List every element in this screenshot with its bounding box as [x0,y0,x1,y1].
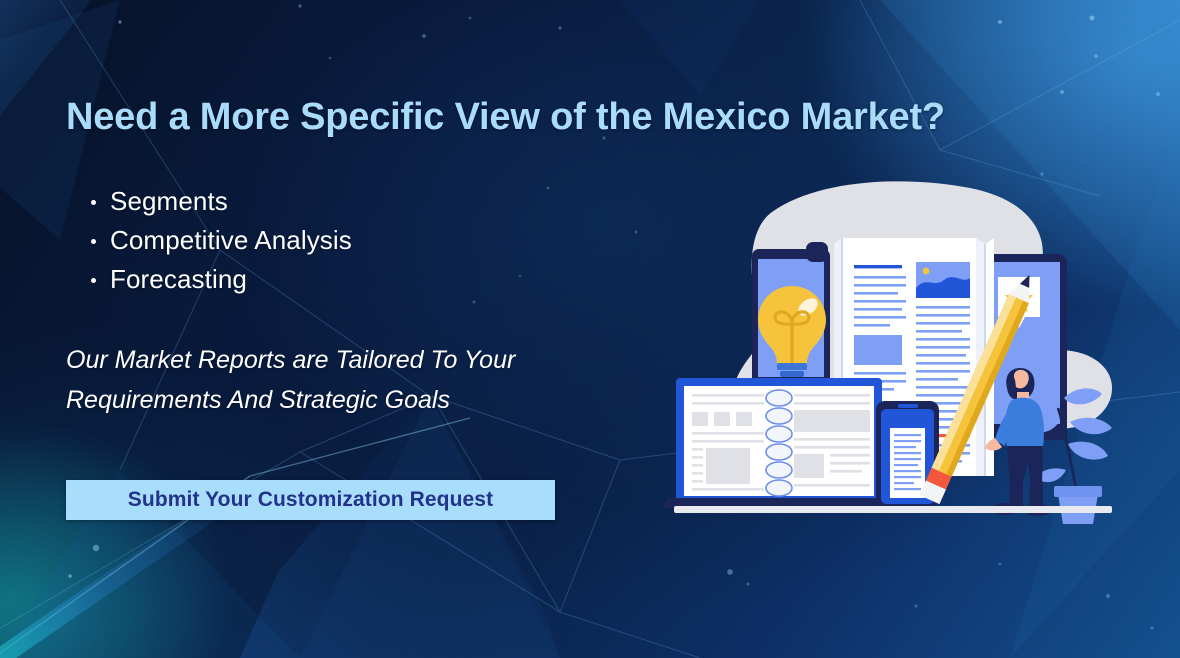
bullet-dot-icon [91,278,96,283]
left-tablet-with-lightbulb [752,242,830,386]
ground-shelf [674,506,1112,513]
list-item-segments: Segments [110,182,352,221]
list-item-label: Segments [110,186,228,216]
feature-list: Segments Competitive Analysis Forecastin… [86,182,352,299]
list-item-label: Competitive Analysis [110,225,352,255]
spiral-notebook-on-laptop [662,378,896,508]
page-title: Need a More Specific View of the Mexico … [66,96,945,139]
illustration-svg [660,176,1130,528]
promo-banner: Need a More Specific View of the Mexico … [0,0,1180,658]
list-item-competitive-analysis: Competitive Analysis [110,221,352,260]
bullet-dot-icon [91,239,96,244]
bullet-dot-icon [91,200,96,205]
market-research-illustration [660,176,1130,528]
list-item-label: Forecasting [110,264,247,294]
banner-content: Need a More Specific View of the Mexico … [66,0,686,658]
tagline-text: Our Market Reports are Tailored To Your … [66,340,626,420]
list-item-forecasting: Forecasting [110,260,352,299]
submit-customization-request-button[interactable]: Submit Your Customization Request [66,480,555,520]
